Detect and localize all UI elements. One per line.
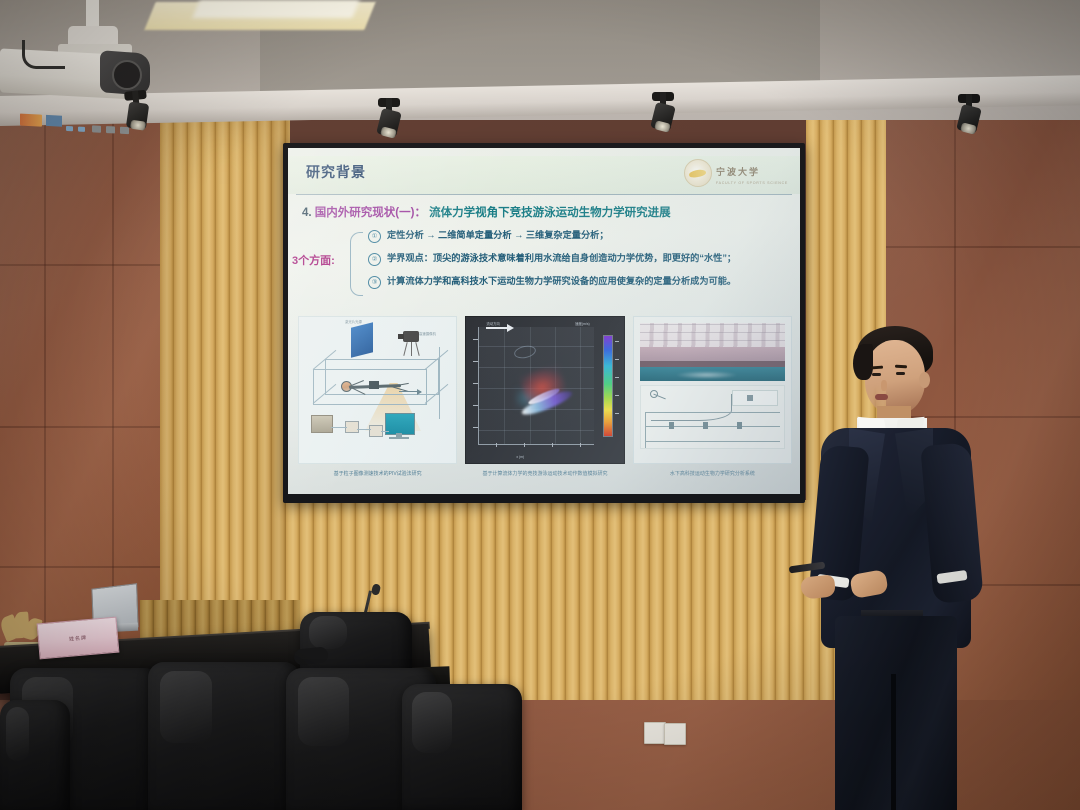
flow-arrow-icon [399, 391, 421, 392]
flow-direction-arrow-icon [486, 327, 512, 329]
diagram-legend [732, 390, 778, 406]
piv-experiment-diagram: 激光片光源 高速摄像机 [298, 316, 457, 464]
logo-cn-name: 宁波大学 [716, 167, 760, 177]
slide-title: 研究背景 [306, 162, 366, 182]
heading-number: 4. [302, 207, 312, 219]
leather-chair[interactable] [148, 662, 300, 810]
leather-chair[interactable] [0, 700, 70, 810]
figure-caption: 基于计算流体力学的竞技游泳运动技术动作数值模拟研究 [466, 470, 623, 477]
slide-figures: 激光片光源 高速摄像机 [298, 316, 792, 464]
pool-photo [640, 323, 785, 381]
analysis-diagram [640, 385, 785, 449]
wall-slat-left [160, 112, 290, 672]
list-item: ② 学界观点：顶尖的游泳技术意味着利用水流给自身创造动力学优势，即更好的“水性”… [368, 253, 792, 266]
wall-switch-plate-1[interactable] [644, 722, 666, 744]
presenter-mouth [875, 394, 888, 400]
monitor-icon [385, 413, 415, 435]
wall-switch-plate-2[interactable] [664, 723, 686, 745]
laser-label: 激光片光源 [345, 319, 362, 324]
camera-label: 高速摄像机 [419, 331, 436, 336]
laser-sheet-icon [351, 322, 373, 357]
list-item: ③ 计算流体力学和高科技水下运动生物力学研究设备的应用使复杂的定量分析成为可能。 [368, 276, 792, 289]
bullet-list: ① 定性分析 → 二维简单定量分析 → 三维复杂定量分析； ② 学界观点：顶尖的… [368, 230, 792, 299]
colorbar [603, 335, 613, 437]
velocity-unit-label: 速度(m/s) [575, 321, 590, 326]
slide-heading: 4. 国内外研究现状(一)： 流体力学视角下竞技游泳运动生物力学研究进展 [302, 204, 671, 220]
bullet-text: 定性分析 → 二维简单定量分析 → 三维复杂定量分析； [387, 230, 609, 241]
computer-icon [311, 415, 333, 433]
projection-screen: 研究背景 宁波大学 FACULTY OF SPORTS SCIENCE 4. 国… [288, 148, 800, 494]
figure-caption: 水下高科技运动生物力学研究分析系统 [634, 470, 791, 477]
bullet-marker: ① [368, 230, 381, 243]
heading-topic: 国内外研究现状(一)： [315, 207, 426, 219]
presentation-slide: 研究背景 宁波大学 FACULTY OF SPORTS SCIENCE 4. 国… [288, 148, 800, 494]
slide-header-rule [296, 194, 792, 195]
placard-text: 姓名牌 [38, 618, 119, 659]
underwater-motion-capture: 水下高科技运动生物力学研究分析系统 [633, 316, 792, 464]
flow-arrow-label: 流动方向 [486, 321, 500, 326]
cfd-plot-area [478, 327, 593, 445]
lecture-room-photo: 研究背景 宁波大学 FACULTY OF SPORTS SCIENCE 4. 国… [0, 0, 1080, 810]
bullet-text: 计算流体力学和高科技水下运动生物力学研究设备的应用使复杂的定量分析成为可能。 [387, 276, 736, 287]
wall-red-left [0, 96, 160, 656]
cfd-xlabel: x (m) [516, 455, 524, 459]
name-placard-white: 姓名牌 [37, 617, 120, 660]
camera-icon [403, 331, 419, 342]
bullet-marker: ② [368, 253, 381, 266]
presenter-legs [835, 616, 957, 810]
list-item: ① 定性分析 → 二维简单定量分析 → 三维复杂定量分析； [368, 230, 792, 243]
bullet-marker: ③ [368, 276, 381, 289]
swimmer-figure [335, 377, 411, 395]
presenter [795, 318, 995, 810]
leather-chair[interactable] [402, 684, 522, 810]
logo-en-name: FACULTY OF SPORTS SCIENCE [716, 181, 788, 185]
brace-bracket [350, 232, 363, 296]
university-logo: 宁波大学 FACULTY OF SPORTS SCIENCE [684, 158, 788, 188]
bullet-text: 学界观点：顶尖的游泳技术意味着利用水流给自身创造动力学优势，即更好的“水性”； [387, 253, 736, 264]
presenter-head [865, 340, 925, 414]
aspects-label: 3个方面: [292, 252, 335, 268]
figure-caption: 基于粒子图像测速技术的PIV试验法研究 [299, 470, 456, 477]
university-crest-icon [684, 159, 712, 187]
cfd-velocity-field: 流动方向 速度(m/s) x (m) 基于计算流体力学的竞技游泳运动技术动作数值… [465, 316, 624, 464]
heading-subject: 流体力学视角下竞技游泳运动生物力学研究进展 [429, 207, 671, 219]
